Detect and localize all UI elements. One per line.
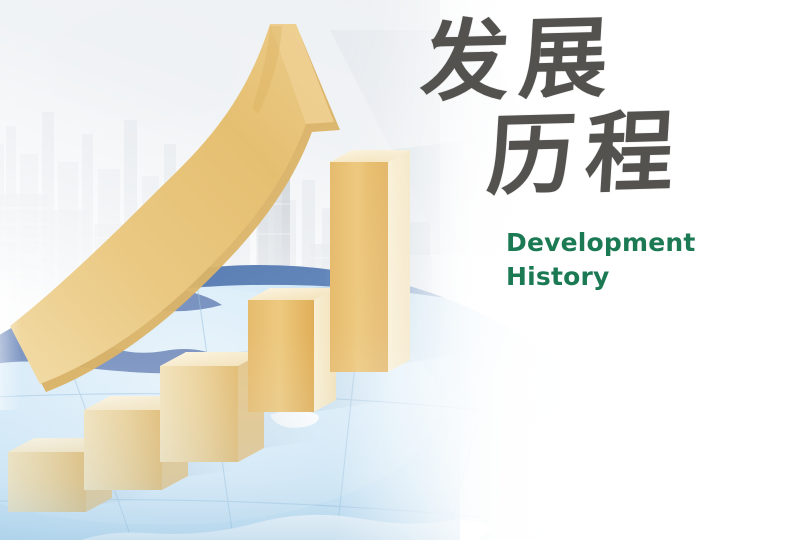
title-english-line-1: Development [506, 226, 754, 260]
title-english-line-2: History [506, 260, 754, 294]
title-chinese-line-2: 历程 [485, 105, 755, 200]
development-history-banner: 发展 历程 Development History [0, 0, 800, 540]
title-english-block: Development History [506, 226, 754, 293]
title-chinese-line-1: 发展 [419, 9, 755, 106]
title-block: 发展 历程 Development History [424, 18, 754, 293]
